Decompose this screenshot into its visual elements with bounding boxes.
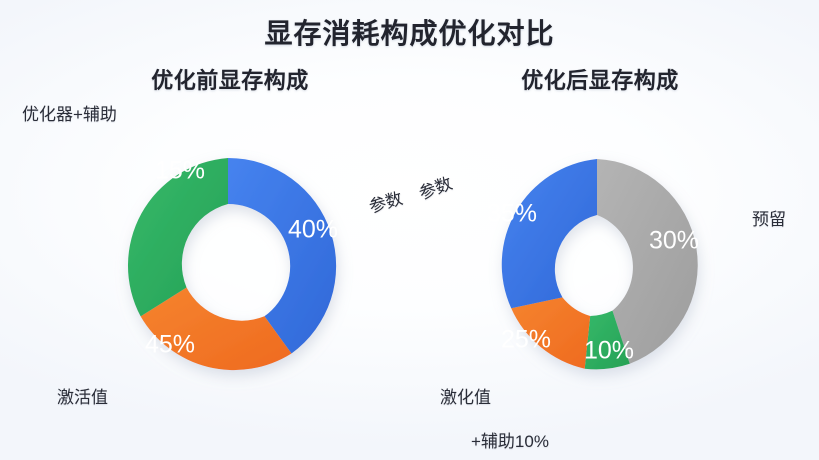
chart-canvas: 显存消耗构成优化对比 优化前显存构成 优化后显存构成 [0, 0, 819, 460]
category-label-left-activation: 激活值 [57, 383, 108, 408]
slice-value-right-reserved: 30% [649, 227, 699, 255]
category-label-right-activation: 激化值 [440, 383, 491, 408]
slice-right-params[interactable] [502, 159, 597, 308]
slice-value-left-params: 40% [288, 216, 338, 244]
category-label-right-reserved: 预留 [752, 205, 786, 230]
category-label-left-optimizer: 优化器+辅助 [22, 100, 117, 125]
slice-value-right-aux: 10% [584, 337, 634, 365]
donut-chart-right: 30% 10% 25% 35% [360, 0, 819, 460]
slice-value-right-params: 35% [487, 200, 537, 228]
slice-value-left-optimizer: 15% [155, 157, 205, 185]
slice-value-right-activation: 25% [501, 326, 551, 354]
category-label-right-aux: +辅助10% [471, 427, 549, 452]
slice-value-left-activation: 45% [145, 331, 195, 359]
